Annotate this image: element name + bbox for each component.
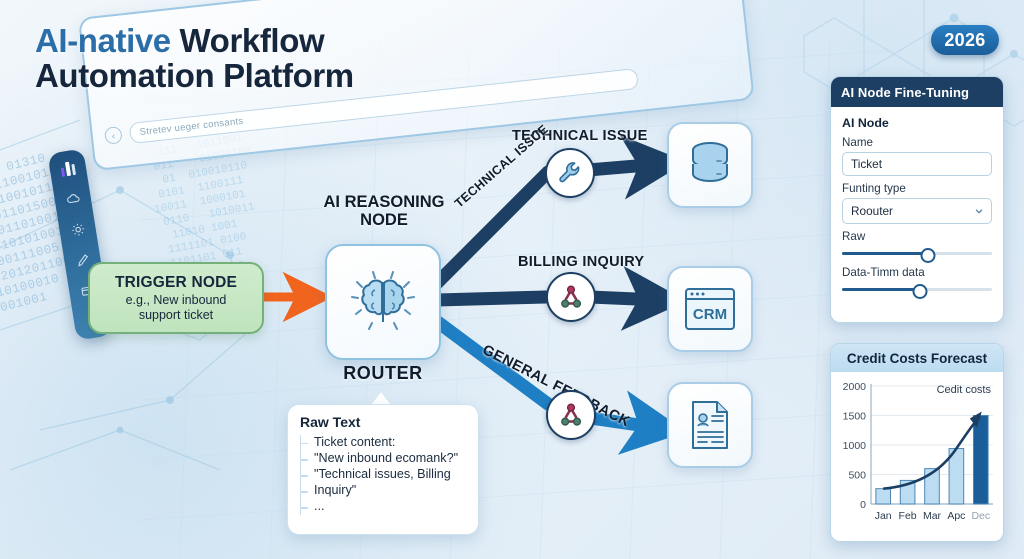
- chart-legend: Cedit costs: [937, 384, 991, 396]
- ai-node-title: AI REASONING NODE: [300, 193, 468, 230]
- raw-text-title: Raw Text: [300, 414, 467, 430]
- branch-node-billing[interactable]: [546, 272, 596, 322]
- data-time-slider-fill: [842, 288, 920, 291]
- chart-ytick: 0: [860, 499, 866, 511]
- trigger-node-title: TRIGGER NODE: [115, 274, 237, 292]
- chart-ytick: 500: [848, 470, 866, 482]
- chart-bar: [876, 489, 891, 504]
- function-type-label: Funting type: [842, 182, 992, 195]
- wrench-icon: [557, 160, 583, 186]
- fine-tuning-panel: AI Node Fine-Tuning AI Node Name Ticket …: [830, 76, 1004, 323]
- chart-xtick: Dec: [971, 510, 990, 522]
- database-icon: [685, 139, 735, 191]
- trigger-node[interactable]: TRIGGER NODE e.g., New inbound support t…: [88, 262, 264, 334]
- raw-text-line: "New inbound ecomank?": [314, 451, 467, 466]
- trigger-node-subtitle-1: e.g., New inbound: [126, 293, 227, 308]
- fine-tuning-section-title: AI Node: [842, 116, 992, 130]
- ai-node-title-line2: NODE: [300, 211, 468, 229]
- function-type-select[interactable]: Roouter: [842, 198, 992, 224]
- chart-bar: [973, 416, 988, 505]
- chart-xtick: Mar: [923, 510, 942, 522]
- chart-panel: Credit Costs Forecast Cedit costs 050010…: [830, 343, 1004, 542]
- destination-database[interactable]: [667, 122, 753, 208]
- raw-text-callout: Raw Text Ticket content: "New inbound ec…: [287, 404, 479, 535]
- document-profile-icon: [687, 399, 733, 451]
- ai-node-subtitle: ROUTER: [318, 363, 448, 384]
- chart-ytick: 1500: [843, 411, 867, 423]
- chevron-down-icon: [974, 206, 984, 216]
- chart-ytick: 1000: [843, 440, 867, 452]
- raw-text-line: Inquiry": [314, 483, 467, 498]
- chart-xtick: Feb: [899, 510, 917, 522]
- brain-icon: [346, 265, 420, 339]
- chart-ytick: 2000: [843, 381, 867, 393]
- arrow-technical-to-database: [588, 164, 660, 170]
- raw-text-line: Ticket content:: [314, 435, 467, 450]
- credit-costs-bar-chart: 0500100015002000JanFebMarApcDec: [831, 372, 1003, 539]
- infographic-canvas: 0110011 01310 1001001100101001 081001100…: [0, 0, 1024, 559]
- data-time-slider-label: Data-Timm data: [842, 266, 992, 279]
- name-field-label: Name: [842, 136, 992, 149]
- webhook-icon: [557, 283, 585, 311]
- data-time-slider-knob[interactable]: [913, 284, 928, 299]
- raw-text-line: ...: [314, 499, 467, 514]
- ai-reasoning-node[interactable]: [325, 244, 441, 360]
- trigger-node-subtitle-2: support ticket: [126, 308, 227, 323]
- chart-area: Cedit costs 0500100015002000JanFebMarApc…: [831, 372, 1003, 539]
- destination-crm[interactable]: CRM: [667, 266, 753, 352]
- fine-tuning-panel-header: AI Node Fine-Tuning: [831, 77, 1003, 107]
- chart-title: Credit Costs Forecast: [831, 344, 1003, 372]
- raw-slider[interactable]: [842, 246, 992, 260]
- raw-slider-fill: [842, 252, 928, 255]
- chart-xtick: Apc: [947, 510, 965, 522]
- destination-document[interactable]: [667, 382, 753, 468]
- ai-node-title-line1: AI REASONING: [300, 193, 468, 211]
- raw-text-line: "Technical issues, Billing: [314, 467, 467, 482]
- name-input[interactable]: Ticket: [842, 152, 992, 176]
- arrow-billing-to-crm: [590, 297, 660, 300]
- arrow-ai-to-billing: [437, 297, 546, 300]
- raw-text-list: Ticket content: "New inbound ecomank?" "…: [300, 435, 467, 515]
- data-time-slider[interactable]: [842, 282, 992, 296]
- raw-slider-label: Raw: [842, 230, 992, 243]
- branch-node-feedback[interactable]: [546, 390, 596, 440]
- crm-window-icon: CRM: [683, 286, 737, 332]
- function-type-value: Roouter: [851, 204, 893, 218]
- branch-node-technical[interactable]: [545, 148, 595, 198]
- raw-slider-knob[interactable]: [920, 248, 935, 263]
- branch-label-billing: BILLING INQUIRY: [518, 254, 644, 270]
- chart-xtick: Jan: [875, 510, 892, 522]
- webhook-icon: [557, 401, 585, 429]
- crm-label: CRM: [693, 306, 727, 323]
